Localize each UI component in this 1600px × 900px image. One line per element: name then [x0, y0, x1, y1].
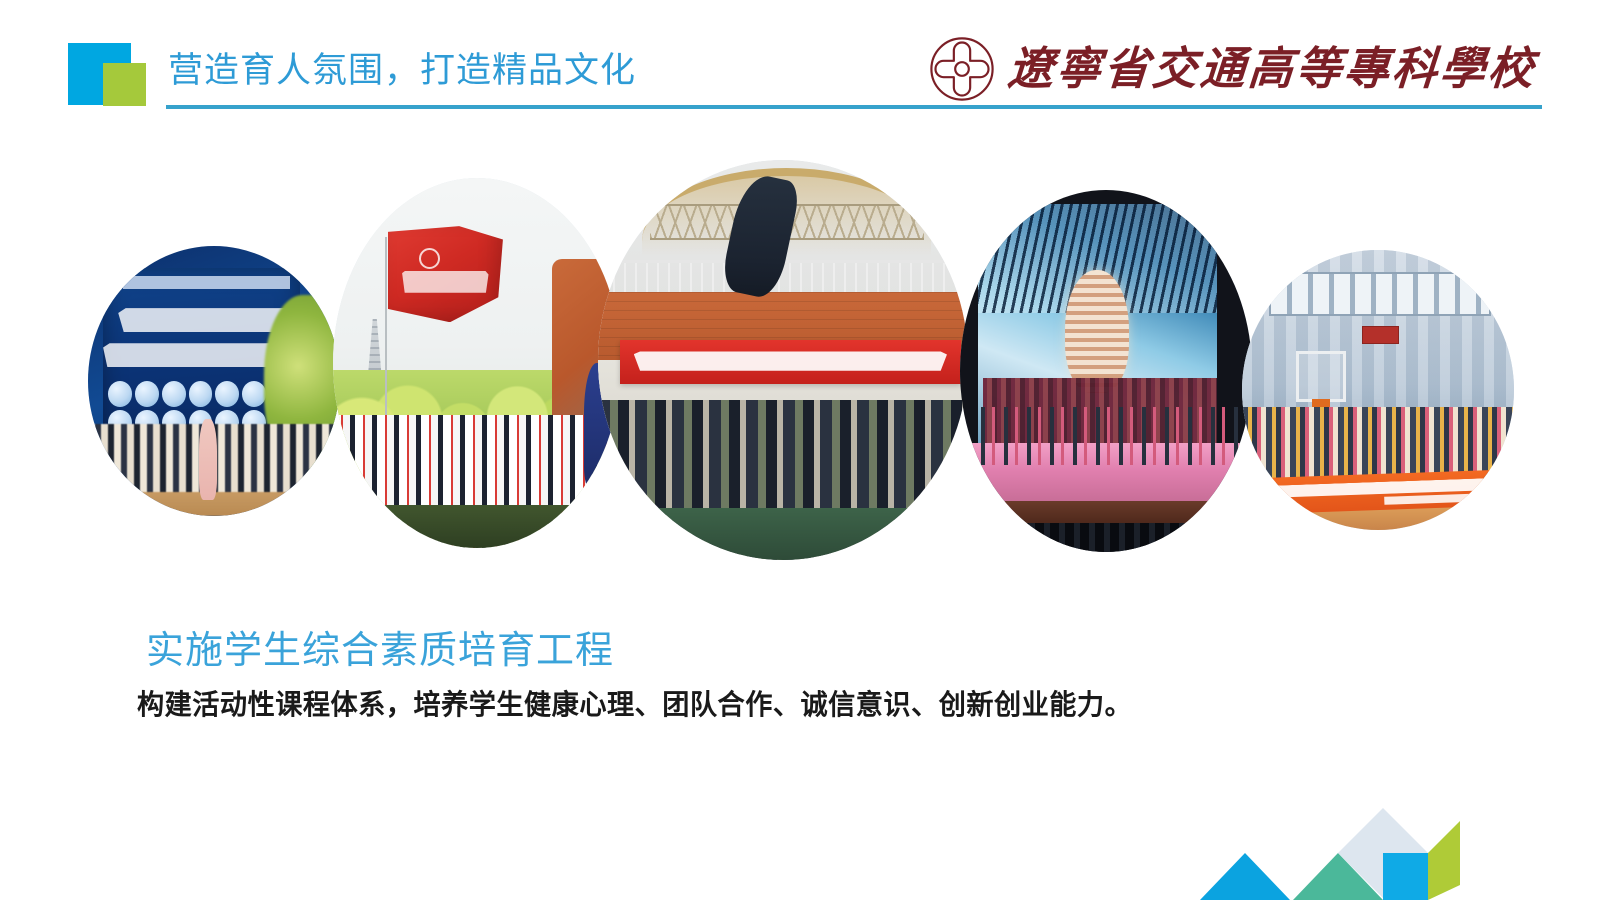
- photo-stage-performance: [960, 190, 1252, 552]
- triangle-cyan-left: [1200, 853, 1290, 900]
- slide-header: 营造育人氛围，打造精品文化 遼寧省交通高等專科學校: [0, 0, 1600, 128]
- mountain-chevron-deco: [1190, 795, 1460, 900]
- school-brand: 遼寧省交通高等專科學校: [928, 33, 1536, 105]
- header-divider-rule: [166, 105, 1542, 109]
- triangle-cyan-right: [1383, 853, 1428, 900]
- photo-psychology-sports-meet: [1242, 250, 1514, 530]
- school-name: 遼寧省交通高等專科學校: [1006, 41, 1538, 97]
- slide-root: 营造育人氛围，打造精品文化 遼寧省交通高等專科學校: [0, 0, 1600, 900]
- section-heading: 实施学生综合素质培育工程: [146, 626, 614, 674]
- header-accent-square-green: [103, 63, 146, 106]
- diamond-yellow-green: [1428, 821, 1460, 900]
- photo-innovation-contest: [88, 246, 340, 516]
- section-body-text: 构建活动性课程体系，培养学生健康心理、团队合作、诚信意识、创新创业能力。: [137, 686, 1132, 724]
- header-title: 营造育人氛围，打造精品文化: [168, 48, 636, 94]
- photo-flag-march: [333, 178, 621, 548]
- photo-cluster: [0, 150, 1600, 590]
- photo-team-building: [598, 160, 968, 560]
- school-emblem-icon: [928, 35, 996, 103]
